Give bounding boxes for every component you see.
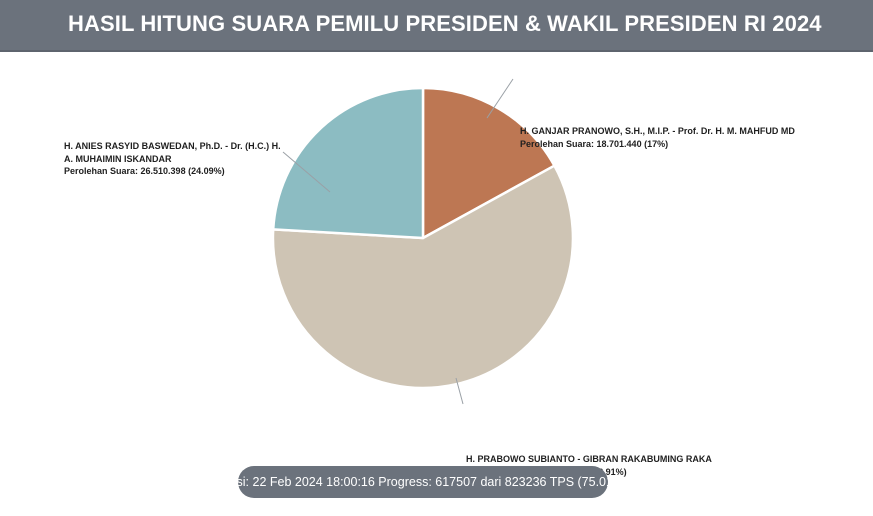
version-progress-badge: Versi: 22 Feb 2024 18:00:16 Progress: 61…	[238, 466, 608, 498]
page-title: HASIL HITUNG SUARA PEMILU PRESIDEN & WAK…	[68, 11, 822, 37]
pie-chart-svg	[0, 52, 873, 452]
pie-chart-container: H. ANIES RASYID BASWEDAN, Ph.D. - Dr. (H…	[0, 52, 873, 452]
pie-label-ganjar-value: Perolehan Suara: 18.701.440 (17%)	[520, 138, 795, 151]
header-bar: HASIL HITUNG SUARA PEMILU PRESIDEN & WAK…	[0, 0, 873, 52]
pie-label-anies: H. ANIES RASYID BASWEDAN, Ph.D. - Dr. (H…	[64, 140, 281, 178]
pie-label-prabowo-name: H. PRABOWO SUBIANTO - GIBRAN RAKABUMING …	[466, 453, 712, 466]
pie-label-anies-value: Perolehan Suara: 26.510.398 (24.09%)	[64, 165, 281, 178]
pie-label-ganjar: H. GANJAR PRANOWO, S.H., M.I.P. - Prof. …	[520, 125, 795, 150]
pie-label-anies-name-line1: H. ANIES RASYID BASWEDAN, Ph.D. - Dr. (H…	[64, 140, 281, 153]
pie-label-anies-name-line2: A. MUHAIMIN ISKANDAR	[64, 153, 281, 166]
pie-label-ganjar-name: H. GANJAR PRANOWO, S.H., M.I.P. - Prof. …	[520, 125, 795, 138]
version-progress-text: Versi: 22 Feb 2024 18:00:16 Progress: 61…	[218, 475, 628, 489]
